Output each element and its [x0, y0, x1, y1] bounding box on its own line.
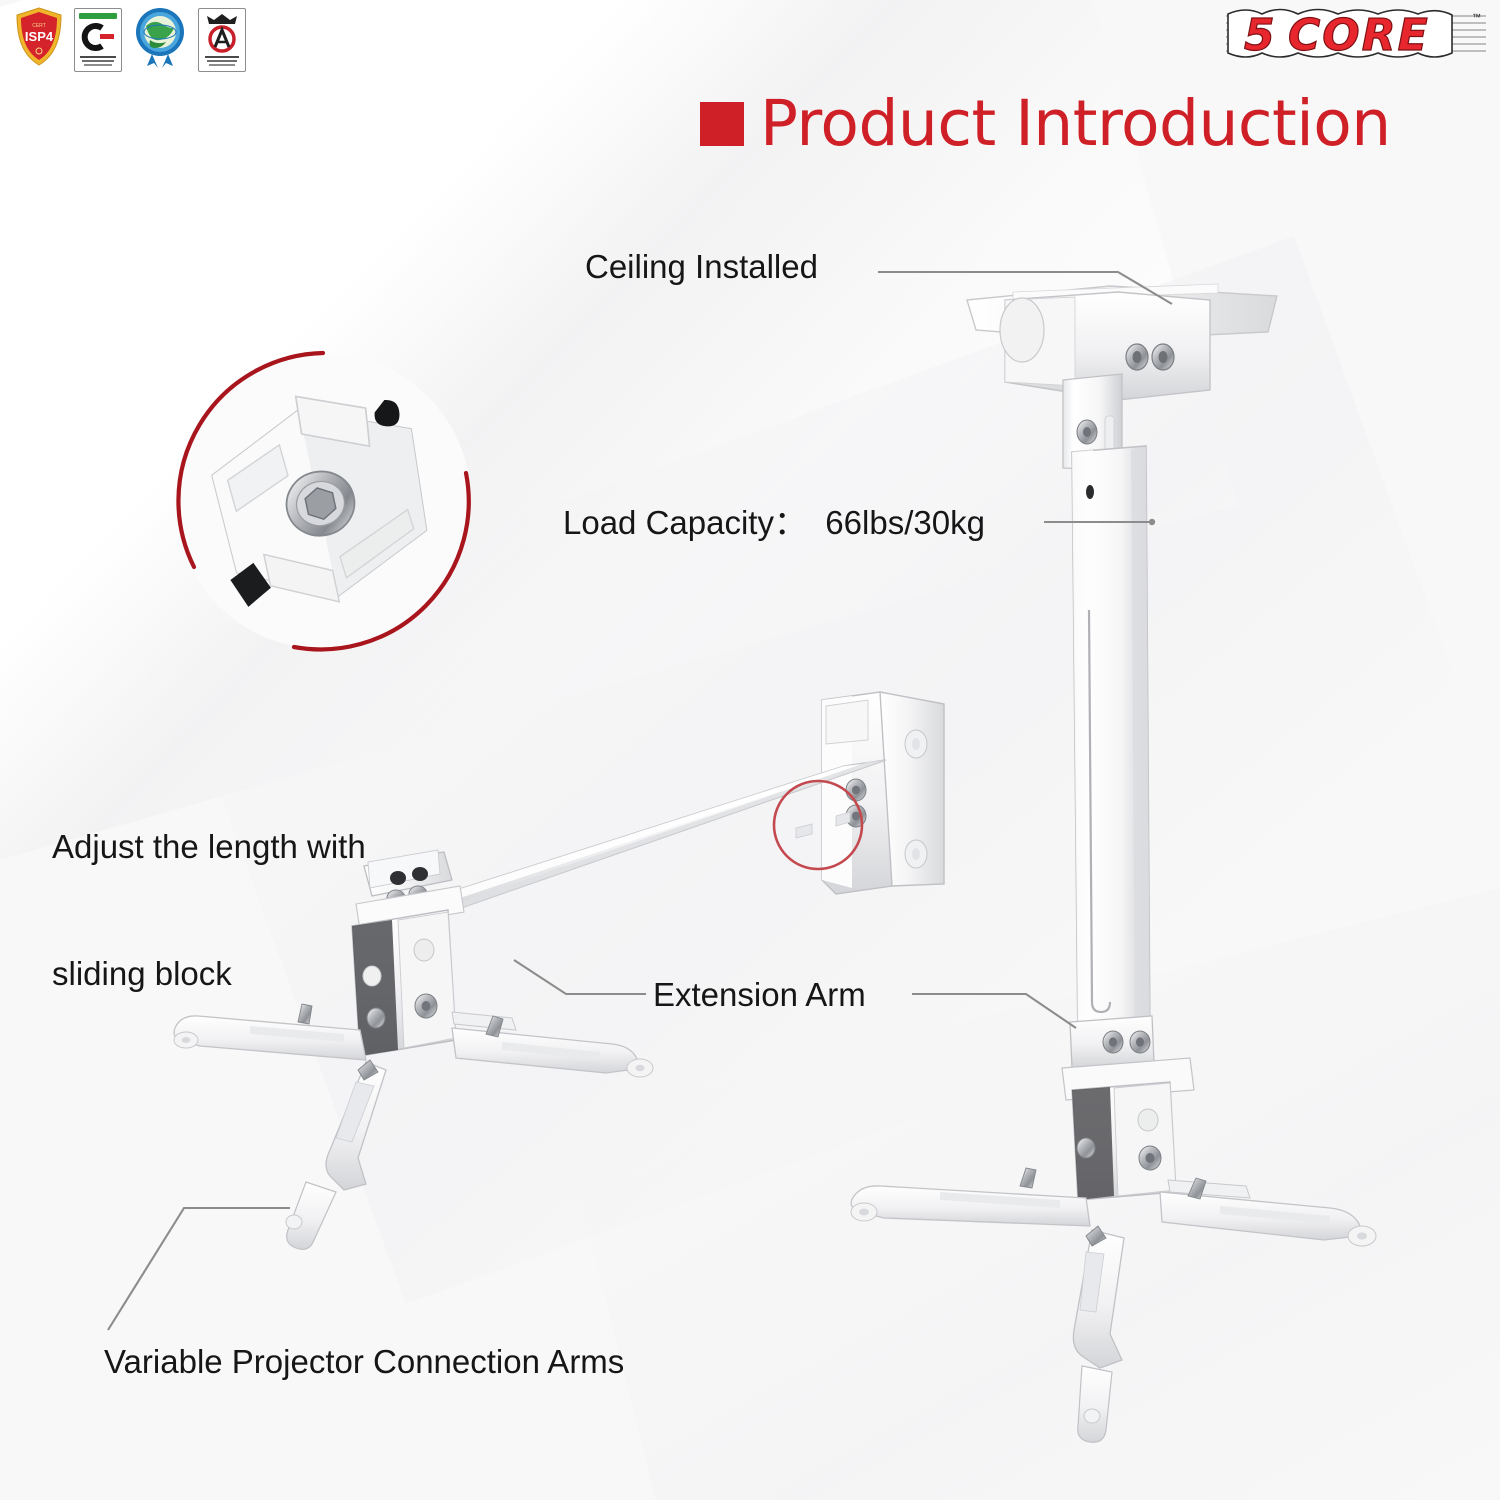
- left-tilt-head: [352, 850, 464, 1056]
- certification-badges: CERT ISP4: [14, 6, 246, 73]
- svg-text:ISP4: ISP4: [25, 29, 54, 44]
- crown-icon: [205, 13, 239, 25]
- brand-logo-digit: 5: [1244, 10, 1275, 61]
- ceiling-plate-assembly: [967, 284, 1277, 470]
- callout-adjust-length: Adjust the length with sliding block: [52, 742, 366, 1080]
- callout-adjust-length-line2: sliding block: [52, 953, 366, 995]
- infographic-canvas: CERT ISP4: [0, 0, 1500, 1500]
- extension-arm: [388, 760, 886, 918]
- leader-load-capacity-dot: [1149, 519, 1155, 525]
- callout-extension-arm: Extension Arm: [653, 974, 866, 1016]
- callout-adjust-length-line1: Adjust the length with: [52, 826, 366, 868]
- wall-bracket: [822, 692, 944, 894]
- brand-trademark: ™: [1472, 12, 1481, 22]
- background-band-bottom: [561, 856, 1500, 1500]
- title-text: Product Introduction: [760, 92, 1391, 155]
- right-thumb-screws: [1020, 1168, 1206, 1246]
- callout-load-capacity: Load Capacity： 66lbs/30kg: [563, 502, 985, 544]
- leader-connection-arms: [108, 1208, 290, 1330]
- callout-connection-arms: Variable Projector Connection Arms: [104, 1341, 624, 1383]
- callout-ceiling-installed: Ceiling Installed: [585, 246, 818, 288]
- extension-arm-highlight-ring: [774, 781, 862, 869]
- sliding-block-detail-view: [168, 345, 478, 657]
- brand-logo-5core: 5 CORE ™: [1222, 4, 1490, 64]
- telescoping-pole: [1070, 446, 1154, 1068]
- cert-badge-a-mark: [198, 8, 246, 72]
- right-tilt-head: [1062, 1058, 1194, 1200]
- ceiling-plate-screws: [1126, 344, 1174, 370]
- cert-badge-ce: [74, 8, 122, 72]
- brand-logo-word: CORE: [1288, 10, 1430, 61]
- leader-extension-arm-left: [514, 960, 646, 994]
- leader-ceiling-installed: [878, 272, 1172, 304]
- title-bullet-square: [700, 102, 744, 146]
- cert-badge-isp4: CERT ISP4: [14, 7, 64, 72]
- leader-extension-arm-right: [912, 994, 1076, 1028]
- isp4-shield-icon: CERT ISP4: [14, 7, 64, 67]
- ce-mark-icon: [80, 22, 116, 52]
- page-title: Product Introduction: [700, 92, 1391, 155]
- globe-ribbon-icon: [132, 6, 188, 68]
- right-spider-arms: [851, 1168, 1376, 1442]
- a-mark-icon: [207, 25, 237, 53]
- cert-badge-globe: [132, 6, 188, 73]
